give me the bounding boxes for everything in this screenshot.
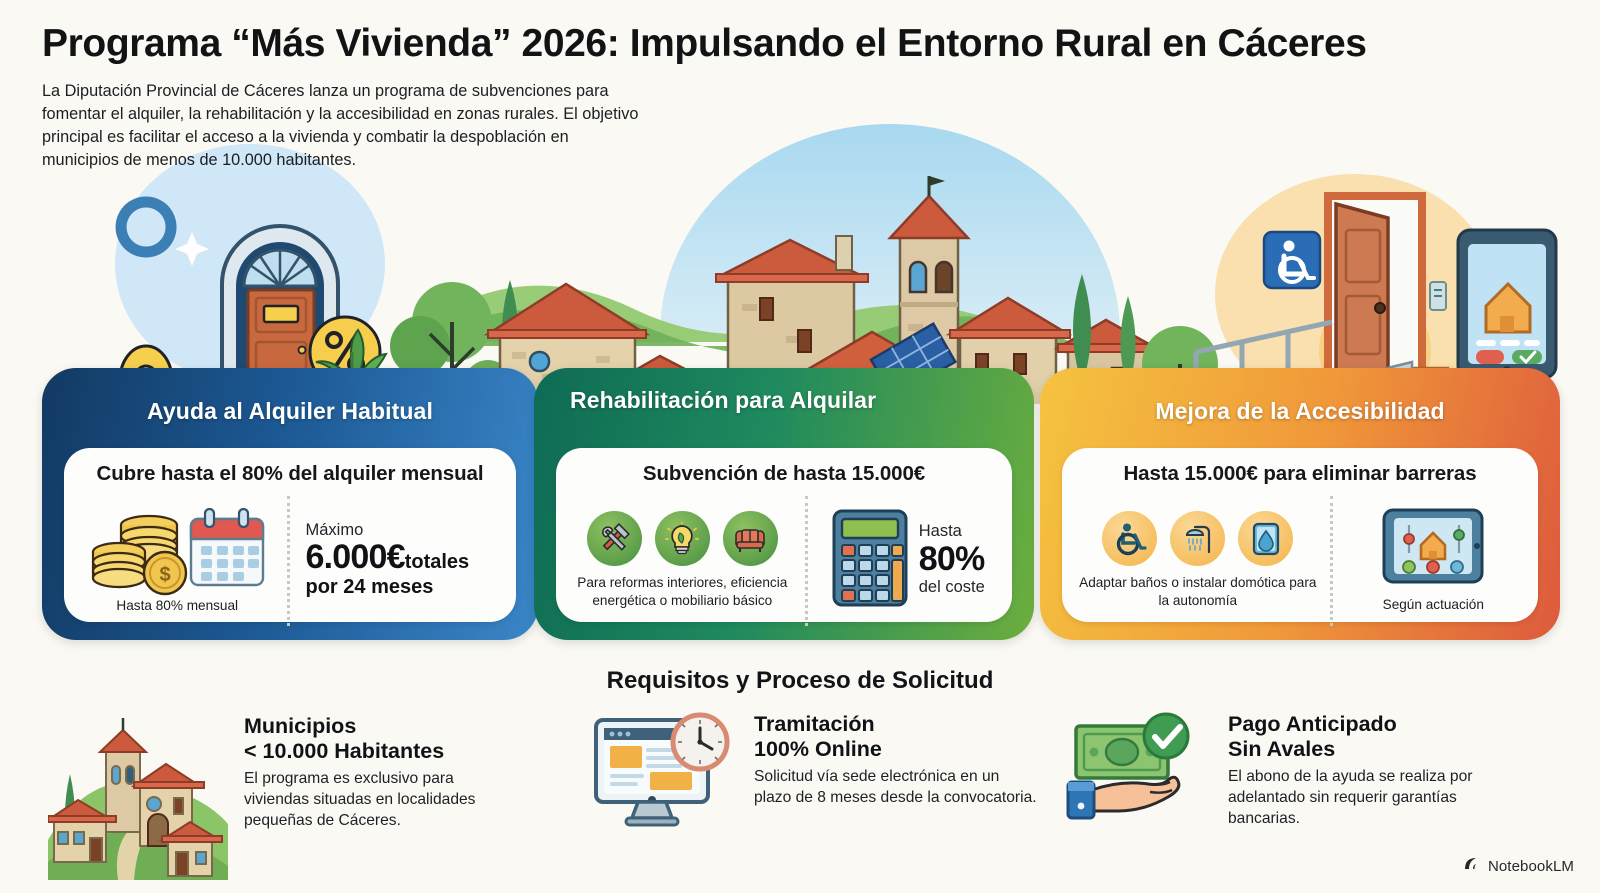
intro-paragraph: La Diputación Provincial de Cáceres lanz… — [42, 80, 642, 173]
hero-rent-illustration — [115, 144, 420, 404]
card-title: Ayuda al Alquiler Habitual — [42, 398, 538, 425]
card-rehabilitacion[interactable]: Rehabilitación para Alquilar Subvención … — [534, 368, 1034, 640]
requirements-row: Municipios < 10.000 Habitantes El progra… — [0, 700, 1600, 885]
smart-home-tablet-hero-icon — [1458, 230, 1556, 378]
requirement-heading: Municipios < 10.000 Habitantes — [244, 714, 518, 764]
stat-amount-unit: totales — [405, 551, 469, 573]
heading-line-2: Sin Avales — [1228, 737, 1335, 761]
stat-amount-value: 6.000€ — [306, 538, 405, 576]
card-divider — [1330, 496, 1333, 626]
requirements-section-title: Requisitos y Proceso de Solicitud — [0, 667, 1600, 695]
card-left-pane: Adaptar baños o instalar domótica para l… — [1078, 490, 1318, 630]
card-headline: Subvención de hasta 15.000€ — [572, 462, 996, 486]
calendar-icon — [191, 509, 263, 585]
card-right-caption: Según actuación — [1383, 596, 1484, 613]
page-title: Programa “Más Vivienda” 2026: Impulsando… — [42, 22, 1562, 66]
requirement-description: Solicitud vía sede electrónica en un pla… — [754, 767, 1038, 808]
requirement-heading: Pago Anticipado Sin Avales — [1228, 712, 1522, 762]
requirement-item-tramitacion: Tramitación 100% Online Solicitud vía se… — [588, 708, 1038, 843]
notebooklm-icon — [1463, 855, 1481, 877]
stat-detail: por 24 meses — [306, 576, 501, 599]
requirement-description: El abono de la ayuda se realiza por adel… — [1228, 767, 1522, 829]
wheelchair-sign-icon — [1264, 232, 1320, 288]
card-right-pane: Según actuación — [1345, 490, 1522, 630]
smart-home-tablet-icon — [1381, 507, 1485, 590]
card-left-pane: $ — [80, 490, 275, 630]
card-accesibilidad[interactable]: Mejora de la Accesibilidad Hasta 15.000€… — [1040, 368, 1560, 640]
card-headline: Cubre hasta el 80% del alquiler mensual — [80, 462, 500, 486]
stat-amount: 6.000€totales — [306, 540, 501, 576]
card-left-caption: Adaptar baños o instalar domótica para l… — [1078, 574, 1318, 609]
card-divider — [287, 496, 290, 626]
card-ayuda-alquiler[interactable]: Ayuda al Alquiler Habitual Cubre hasta e… — [42, 368, 538, 640]
card-right-pane: Máximo 6.000€totales por 24 meses — [302, 490, 501, 630]
dollar-coin-icon: $ — [144, 552, 186, 594]
card-right-pane: Hasta 80% del coste — [820, 490, 996, 630]
calculator-icon — [831, 508, 909, 613]
shower-icon — [1170, 511, 1225, 566]
monitor-clock-icon — [588, 708, 738, 843]
heading-line-1: Tramitación — [754, 712, 875, 736]
village-icon — [48, 710, 228, 885]
card-left-pane: Para reformas interiores, eficiencia ene… — [572, 490, 793, 630]
card-inner-panel: Cubre hasta el 80% del alquiler mensual — [64, 448, 516, 622]
accessibility-icon-row — [1078, 511, 1318, 566]
card-inner-panel: Hasta 15.000€ para eliminar barreras — [1062, 448, 1538, 622]
notebooklm-watermark: NotebookLM — [1463, 855, 1574, 877]
requirement-description: El programa es exclusivo para viviendas … — [244, 769, 518, 831]
stat-amount: 80% — [919, 542, 985, 578]
hand-icon — [1068, 777, 1179, 818]
card-title: Mejora de la Accesibilidad — [1040, 398, 1560, 425]
heading-line-2: 100% Online — [754, 737, 882, 761]
eco-lightbulb-icon — [655, 511, 710, 566]
wheelchair-icon — [1102, 511, 1157, 566]
requirement-heading: Tramitación 100% Online — [754, 712, 1038, 762]
requirement-item-municipios: Municipios < 10.000 Habitantes El progra… — [48, 710, 518, 885]
card-headline: Hasta 15.000€ para eliminar barreras — [1078, 462, 1522, 486]
card-title: Rehabilitación para Alquilar — [570, 386, 876, 414]
card-inner-panel: Subvención de hasta 15.000€ — [556, 448, 1012, 622]
money-hand-check-icon — [1062, 708, 1212, 838]
tools-icon — [587, 511, 642, 566]
notebooklm-label: NotebookLM — [1488, 858, 1574, 875]
card-divider — [805, 496, 808, 626]
page-header: Programa “Más Vivienda” 2026: Impulsando… — [42, 22, 1562, 173]
card-left-caption: Para reformas interiores, eficiencia ene… — [572, 574, 793, 609]
check-badge-icon — [1144, 714, 1188, 758]
rehab-icon-row — [572, 511, 793, 566]
coins-calendar-art: $ — [80, 505, 275, 597]
water-drop-tablet-icon — [1238, 511, 1293, 566]
svg-text:$: $ — [160, 564, 171, 586]
requirement-item-pago-anticipado: Pago Anticipado Sin Avales El abono de l… — [1062, 708, 1522, 838]
benefit-cards: Ayuda al Alquiler Habitual Cubre hasta e… — [0, 368, 1600, 640]
stat-detail: del coste — [919, 578, 985, 598]
clock-icon — [673, 715, 727, 769]
heading-line-2: < 10.000 Habitantes — [244, 739, 444, 763]
card-left-caption: Hasta 80% mensual — [80, 597, 275, 614]
heading-line-1: Municipios — [244, 714, 356, 738]
heading-line-1: Pago Anticipado — [1228, 712, 1397, 736]
sofa-icon — [723, 511, 778, 566]
